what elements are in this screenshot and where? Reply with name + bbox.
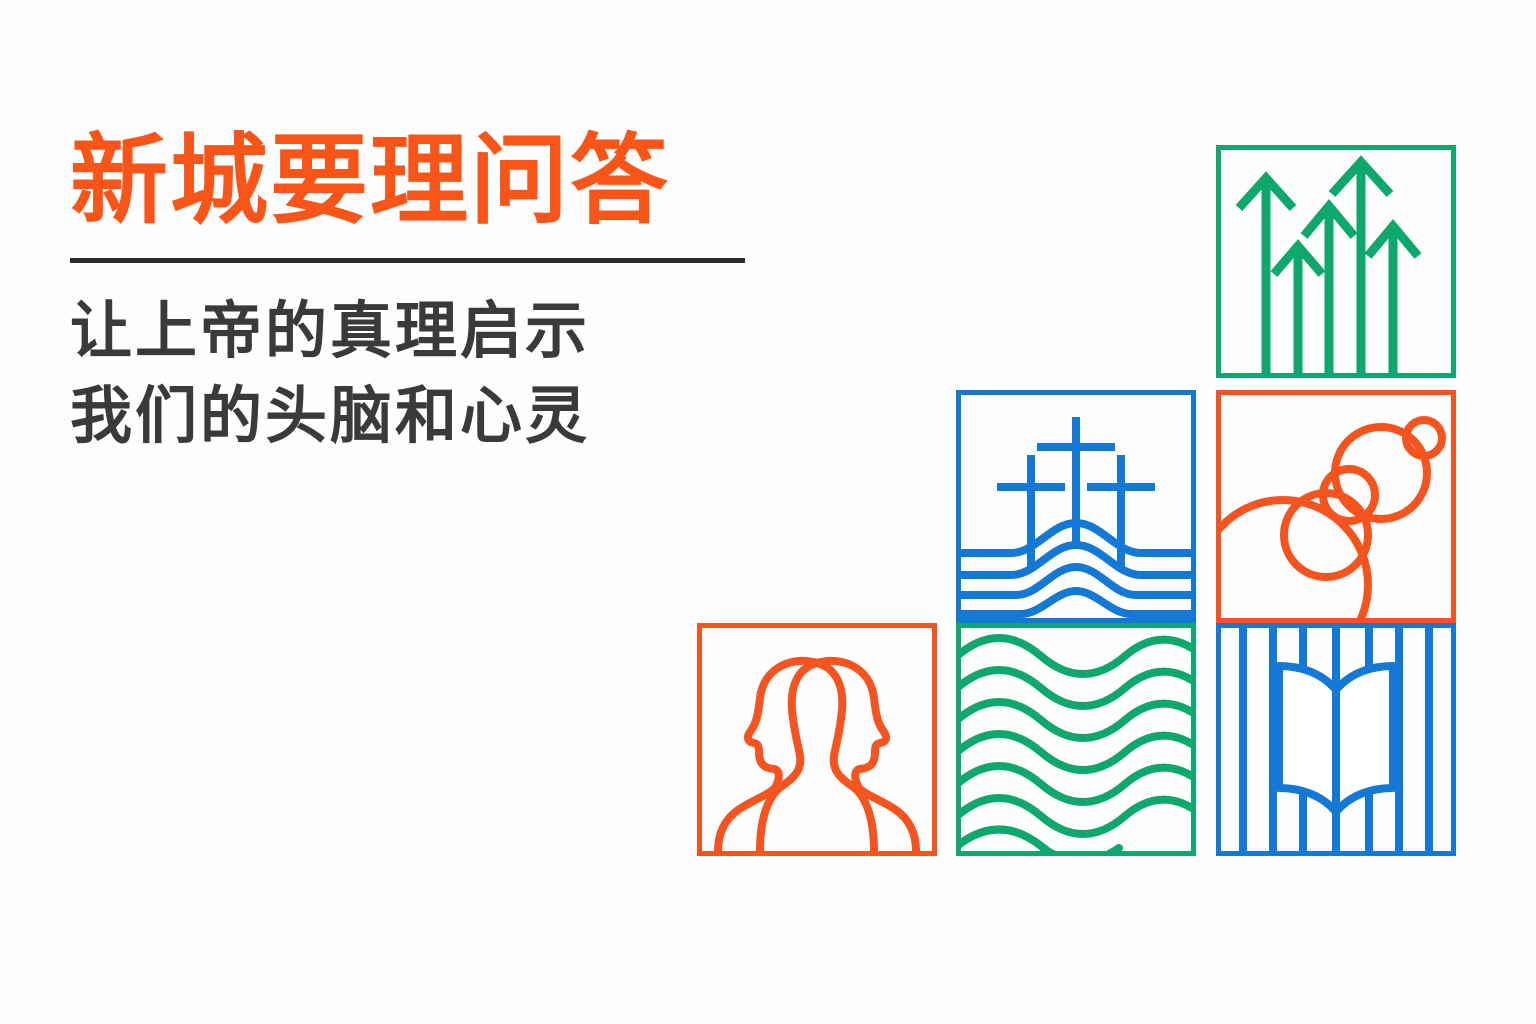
subtitle-line-2: 我们的头脑和心灵 bbox=[70, 374, 770, 460]
tile-three-crosses bbox=[956, 390, 1196, 623]
three-crosses-hill-icon bbox=[961, 395, 1191, 618]
overlapping-circles-icon bbox=[1221, 395, 1451, 618]
title-divider bbox=[70, 258, 745, 263]
icon-tile-grid bbox=[697, 145, 1462, 865]
tile-growth-arrows bbox=[1216, 145, 1456, 378]
open-book-icon bbox=[1221, 628, 1451, 851]
growth-arrows-icon bbox=[1221, 150, 1451, 373]
tile-open-book bbox=[1216, 623, 1456, 856]
tile-overlapping-circles bbox=[1216, 390, 1456, 623]
tile-two-profiles bbox=[697, 623, 937, 856]
page-title: 新城要理问答 bbox=[70, 128, 770, 234]
water-waves-icon bbox=[961, 628, 1191, 851]
subtitle-line-1: 让上帝的真理启示 bbox=[70, 289, 770, 375]
two-profiles-icon bbox=[702, 628, 932, 851]
title-block: 新城要理问答 让上帝的真理启示 我们的头脑和心灵 bbox=[70, 128, 770, 460]
tile-water-waves bbox=[956, 623, 1196, 856]
